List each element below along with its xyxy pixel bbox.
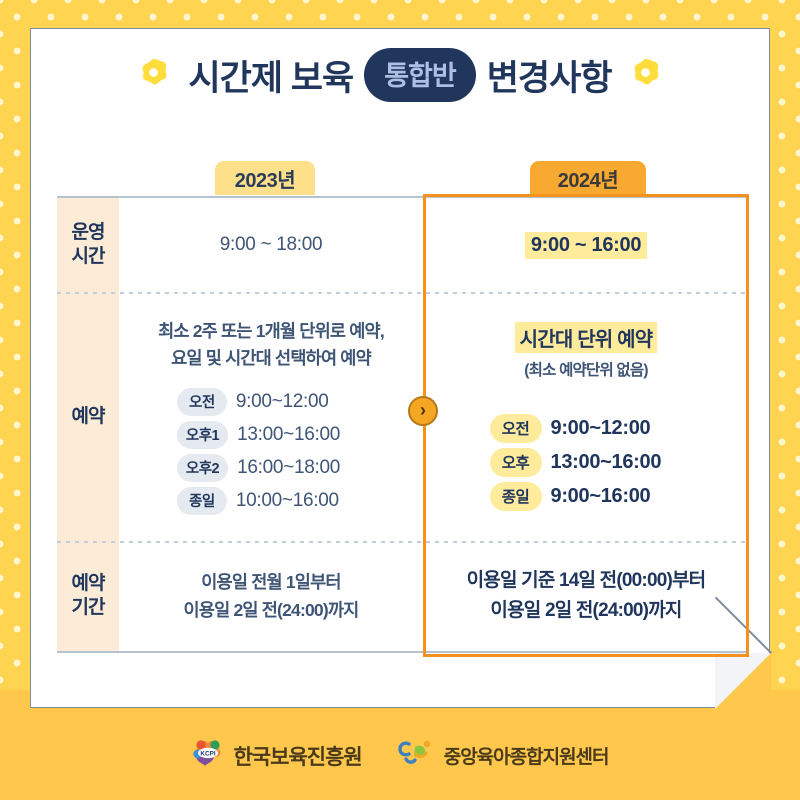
title-part-1: 시간제 보육: [188, 50, 353, 101]
svg-text:KCPI: KCPI: [201, 750, 216, 757]
slot-chip: 오후: [490, 448, 542, 477]
row-label-line2: 시간: [72, 246, 105, 267]
row-label-line2: 기간: [72, 597, 105, 618]
list-item: 종일 10:00~16:00: [177, 487, 365, 515]
slot-time: 13:00~16:00: [237, 424, 365, 446]
slot-time: 9:00~16:00: [551, 485, 683, 508]
slot-chip: 종일: [177, 487, 227, 515]
period-2024-line1: 이용일 기준 14일 전(00:00)부터: [467, 566, 706, 596]
footer-logos: KCPI 한국보육진흥원 중앙육아종합지원센터: [0, 736, 800, 775]
tab-year-2024[interactable]: 2024년: [530, 161, 646, 195]
slot-chip: 오전: [177, 388, 227, 416]
chevron-right-icon: ›: [408, 396, 438, 426]
list-item: 오전 9:00~12:00: [177, 388, 365, 416]
central-childcare-logo-icon: [396, 738, 436, 773]
logo-central-childcare: 중앙육아종합지원센터: [396, 738, 609, 773]
period-2023-text: 이용일 전월 1일부터 이용일 2일 전(24:00)까지: [184, 568, 359, 624]
row-label-reservation: 예약: [57, 292, 119, 541]
flower-icon-left: [138, 57, 170, 94]
period-2024-text: 이용일 기준 14일 전(00:00)부터 이용일 2일 전(24:00)까지: [467, 566, 706, 627]
slot-chip: 오후1: [177, 421, 228, 449]
cell-2023-reservation-period: 이용일 전월 1일부터 이용일 2일 전(24:00)까지: [119, 541, 423, 651]
flower-icon-right: [630, 57, 662, 94]
reservation-2023-slot-list: 오전 9:00~12:00 오후1 13:00~16:00 오후2 16:00~…: [177, 388, 365, 515]
row-label-reservation-period: 예약 기간: [57, 541, 119, 651]
reservation-2023-desc-line1: 최소 2주 또는 1개월 단위로 예약,: [158, 318, 384, 345]
list-item: 오후2 16:00~18:00: [177, 454, 365, 482]
list-item: 오후 13:00~16:00: [490, 448, 683, 477]
cell-2024-reservation-period: 이용일 기준 14일 전(00:00)부터 이용일 2일 전(24:00)까지: [423, 541, 749, 651]
title-badge: 통합반: [364, 48, 476, 102]
period-2023-line2: 이용일 2일 전(24:00)까지: [184, 596, 359, 624]
row-label-line1: 예약: [72, 573, 105, 594]
page-title: 시간제 보육 통합반 변경사항: [0, 48, 800, 102]
list-item: 오후1 13:00~16:00: [177, 421, 365, 449]
slot-time: 10:00~16:00: [236, 490, 364, 512]
row-label-operating-hours: 운영 시간: [57, 198, 119, 292]
logo-kcpi: KCPI 한국보육진흥원: [191, 736, 361, 775]
tab-year-2023[interactable]: 2023년: [215, 161, 315, 195]
page-fold-triangle: [715, 653, 771, 709]
table-row-reservation: 예약 최소 2주 또는 1개월 단위로 예약, 요일 및 시간대 선택하여 예약…: [57, 292, 749, 541]
slot-time: 9:00~12:00: [236, 391, 364, 413]
list-item: 오전 9:00~12:00: [490, 414, 683, 443]
table-row-reservation-period: 예약 기간 이용일 전월 1일부터 이용일 2일 전(24:00)까지 이용일 …: [57, 541, 749, 651]
slot-chip: 오후2: [177, 454, 228, 482]
operating-hours-2023-value: 9:00 ~ 18:00: [220, 234, 323, 256]
title-text-group: 시간제 보육 통합반 변경사항: [188, 48, 611, 102]
cell-2024-operating-hours: 9:00 ~ 16:00: [423, 198, 749, 292]
slot-chip: 종일: [490, 482, 542, 511]
period-2024-line2: 이용일 2일 전(24:00)까지: [467, 596, 706, 626]
reservation-2023-desc-line2: 요일 및 시간대 선택하여 예약: [158, 345, 384, 372]
title-part-2: 변경사항: [487, 50, 612, 101]
cell-2024-reservation: 시간대 단위 예약 (최소 예약단위 없음) 오전 9:00~12:00 오후 …: [423, 292, 749, 541]
row-label-line1: 운영: [72, 222, 105, 243]
slot-chip: 오전: [490, 414, 542, 443]
kcpi-logo-icon: KCPI: [191, 736, 225, 775]
list-item: 종일 9:00~16:00: [490, 482, 683, 511]
central-childcare-logo-text: 중앙육아종합지원센터: [444, 742, 609, 769]
cell-2023-operating-hours: 9:00 ~ 18:00: [119, 198, 423, 292]
kcpi-logo-text: 한국보육진흥원: [233, 741, 361, 771]
slot-time: 13:00~16:00: [551, 451, 683, 474]
reservation-2024-slot-list: 오전 9:00~12:00 오후 13:00~16:00 종일 9:00~16:…: [490, 414, 683, 511]
table-row-operating-hours: 운영 시간 9:00 ~ 18:00 9:00 ~ 16:00: [57, 198, 749, 292]
comparison-table: 운영 시간 9:00 ~ 18:00 9:00 ~ 16:00 예약 최소 2주…: [57, 196, 749, 653]
reservation-2024-heading: 시간대 단위 예약: [515, 322, 658, 353]
period-2023-line1: 이용일 전월 1일부터: [184, 568, 359, 596]
cell-2023-reservation: 최소 2주 또는 1개월 단위로 예약, 요일 및 시간대 선택하여 예약 오전…: [119, 292, 423, 541]
operating-hours-2024-value: 9:00 ~ 16:00: [525, 232, 647, 259]
slot-time: 9:00~12:00: [551, 417, 683, 440]
slot-time: 16:00~18:00: [237, 457, 365, 479]
reservation-2024-subtext: (최소 예약단위 없음): [524, 358, 647, 380]
reservation-2023-description: 최소 2주 또는 1개월 단위로 예약, 요일 및 시간대 선택하여 예약: [158, 318, 384, 372]
